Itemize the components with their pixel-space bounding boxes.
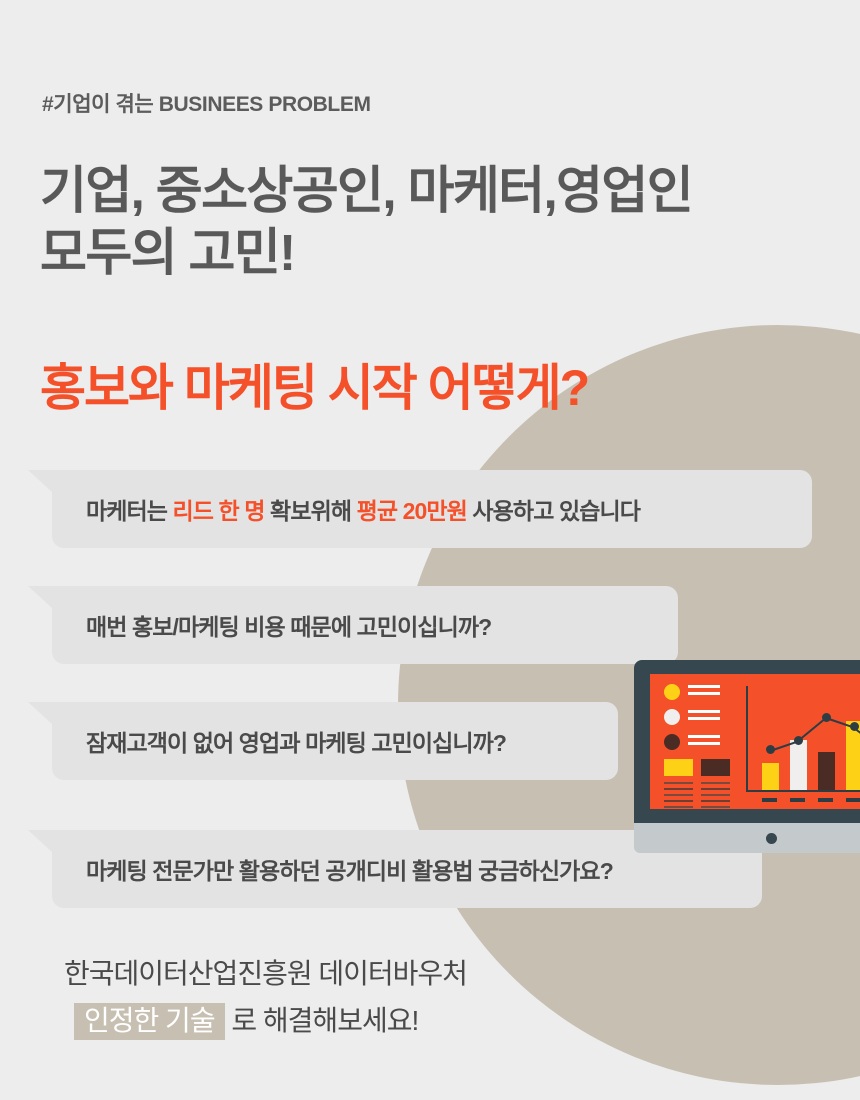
closing-line-1: 한국데이터산업진흥원 데이터바우처 (64, 952, 467, 995)
legend-text-placeholder (688, 710, 720, 724)
chart-data-point (766, 745, 775, 754)
legend-item (664, 684, 734, 700)
legend-dot-yellow-icon (664, 684, 680, 700)
chart-y-axis (746, 686, 748, 790)
legend-dot-white-icon (664, 709, 680, 725)
legend-dot-dark-icon (664, 734, 680, 750)
chart-x-tick (846, 798, 860, 802)
legend-item (664, 734, 734, 750)
closing-copy: 한국데이터산업진흥원 데이터바우처 인정한 기술 로 해결해보세요! (64, 952, 467, 1043)
legend-text-placeholder (688, 685, 720, 699)
closing-line-2: 인정한 기술 로 해결해보세요! (74, 999, 418, 1042)
eyebrow-tag: #기업이 겪는 BUSINEES PROBLEM (42, 88, 371, 118)
bubble-tail-icon (28, 470, 52, 492)
bubble-tail-icon (28, 830, 52, 852)
chart-bar (818, 752, 835, 790)
swatch-yellow-icon (664, 759, 693, 776)
chart-x-tick (818, 798, 833, 802)
monitor-indicator-icon (766, 833, 777, 844)
text-block (701, 782, 730, 809)
monitor-chin (634, 823, 860, 853)
legend-text-blocks (664, 782, 734, 809)
chart-data-point (794, 736, 803, 745)
bubble-text: 마케터는 리드 한 명 확보위해 평균 20만원 사용하고 있습니다 (86, 492, 640, 526)
legend-text-placeholder (688, 735, 720, 749)
bubble-tail-icon (28, 702, 52, 724)
closing-highlight: 인정한 기술 (74, 1003, 225, 1040)
speech-bubble-lead-cost: 마케터는 리드 한 명 확보위해 평균 20만원 사용하고 있습니다 (52, 470, 812, 548)
legend-item (664, 709, 734, 725)
chart-x-axis (746, 790, 860, 792)
chart-x-tick (762, 798, 777, 802)
dashboard-screen (650, 674, 860, 809)
monitor-frame (634, 660, 860, 823)
dashboard-chart (746, 682, 860, 802)
sub-headline: 홍보와 마케팅 시작 어떻게? (40, 348, 588, 420)
chart-bar (762, 763, 779, 790)
bubble-text: 매번 홍보/마케팅 비용 때문에 고민이십니까? (86, 608, 491, 642)
chart-data-point (850, 722, 859, 731)
speech-bubble-no-prospects: 잠재고객이 없어 영업과 마케팅 고민이십니까? (52, 702, 618, 780)
text-block (664, 782, 693, 809)
chart-data-point (822, 713, 831, 722)
speech-bubble-marketing-cost: 매번 홍보/마케팅 비용 때문에 고민이십니까? (52, 586, 678, 664)
legend-swatches (664, 759, 734, 776)
chart-bar (790, 740, 807, 790)
bubble-text: 마케팅 전문가만 활용하던 공개디비 활용법 궁금하신가요? (86, 852, 613, 886)
swatch-dark-icon (701, 759, 730, 776)
dashboard-legend (664, 684, 734, 809)
bubble-text: 잠재고객이 없어 영업과 마케팅 고민이십니까? (86, 724, 506, 758)
promo-page: #기업이 겪는 BUSINEES PROBLEM 기업, 중소상공인, 마케터,… (0, 0, 860, 1100)
monitor-illustration (634, 660, 860, 855)
page-title: 기업, 중소상공인, 마케터,영업인 모두의 고민! (40, 160, 692, 284)
chart-x-tick (790, 798, 805, 802)
closing-suffix: 로 해결해보세요! (225, 1005, 419, 1036)
bubble-tail-icon (28, 586, 52, 608)
